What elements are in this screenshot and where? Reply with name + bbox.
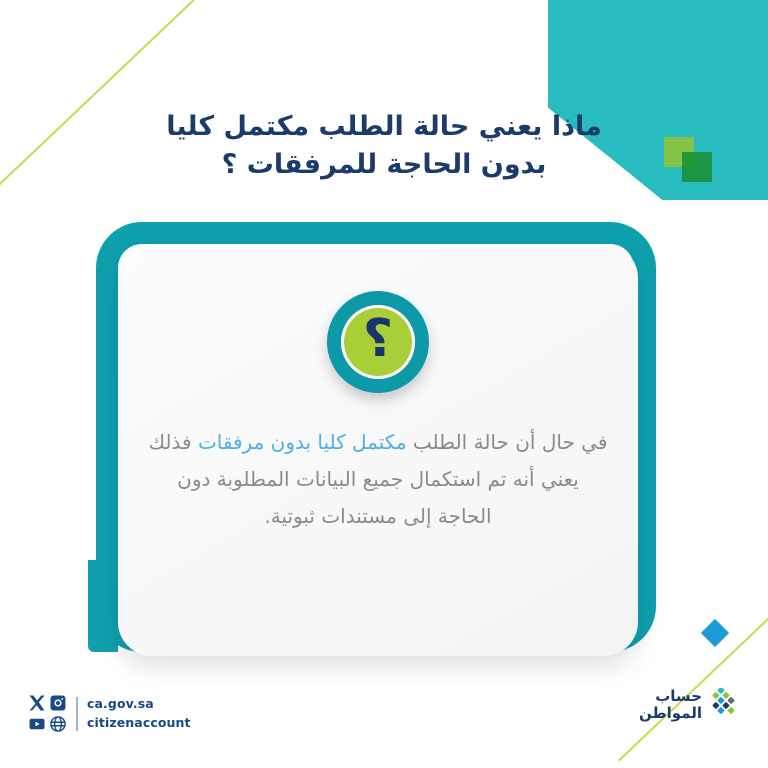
page-title-line-1: ماذا يعني حالة الطلب مكتمل كليا bbox=[0, 108, 768, 146]
footer-divider bbox=[76, 697, 78, 731]
footer-social-handle[interactable]: citizenaccount bbox=[87, 714, 191, 732]
social-icon-grid bbox=[28, 694, 67, 733]
globe-icon[interactable] bbox=[49, 715, 67, 733]
page-title-line-2: بدون الحاجة للمرفقات ؟ bbox=[0, 146, 768, 184]
body-text-part-1: في حال أن حالة الطلب bbox=[407, 430, 608, 454]
body-paragraph: في حال أن حالة الطلب مكتمل كليا بدون مرف… bbox=[148, 424, 608, 535]
question-mark-icon: ؟ bbox=[363, 313, 393, 365]
footer-urls: ca.gov.sa citizenaccount bbox=[87, 695, 191, 732]
brand-name-line-1: حساب bbox=[639, 688, 702, 705]
brand-name-line-2: المواطن bbox=[639, 705, 702, 722]
x-twitter-icon[interactable] bbox=[28, 694, 46, 712]
brand-name: حساب المواطن bbox=[639, 688, 702, 722]
footer-social-block: ca.gov.sa citizenaccount bbox=[28, 694, 191, 733]
instagram-icon[interactable] bbox=[49, 694, 67, 712]
brand-logo: حساب المواطن bbox=[639, 688, 744, 722]
page-title: ماذا يعني حالة الطلب مكتمل كليا بدون الح… bbox=[0, 108, 768, 185]
card-frame-bottom-left-accent bbox=[88, 560, 118, 652]
question-badge: ؟ bbox=[327, 291, 429, 393]
youtube-icon[interactable] bbox=[28, 715, 46, 733]
blue-diamond-decoration bbox=[701, 619, 729, 647]
poster-canvas: ماذا يعني حالة الطلب مكتمل كليا بدون الح… bbox=[0, 0, 768, 768]
question-badge-inner-circle: ؟ bbox=[341, 305, 415, 379]
body-text-highlight: مكتمل كليا بدون مرفقات bbox=[198, 430, 407, 454]
citizen-account-logo-mark-icon bbox=[708, 688, 744, 722]
footer-website-url[interactable]: ca.gov.sa bbox=[87, 695, 191, 713]
